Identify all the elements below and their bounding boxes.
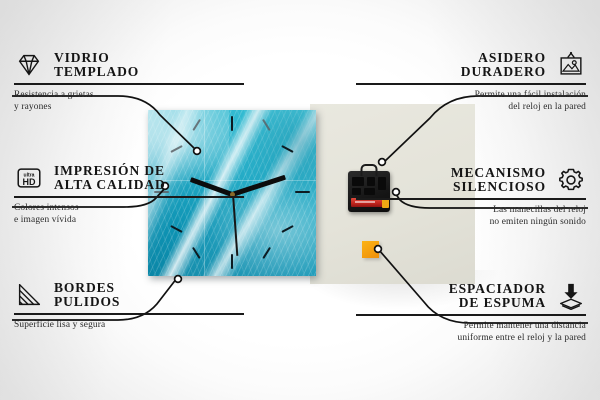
foam-spacer [362, 241, 379, 258]
feature-desc-line2: e imagen vívida [14, 214, 244, 227]
svg-text:HD: HD [23, 177, 36, 187]
feature-rule [14, 83, 244, 85]
feature-title-line2: PULIDOS [54, 295, 120, 309]
feature-desc-line2: del reloj en la pared [356, 101, 586, 114]
polished-edge-icon [14, 280, 44, 310]
feature-impresion-alta-calidad: ultra HD IMPRESIÓN DE ALTA CALIDAD Color… [14, 163, 244, 227]
tick-6 [231, 254, 233, 269]
infographic-canvas: VIDRIO TEMPLADO Resistencia a grietas y … [0, 0, 600, 400]
feature-title-line2: ALTA CALIDAD [54, 178, 166, 192]
feature-desc-line1: Las manecillas del reloj [356, 204, 586, 217]
feature-title-line1: MECANISMO [451, 166, 546, 180]
feature-desc-line2: y rayones [14, 101, 244, 114]
feature-title-line2: TEMPLADO [54, 65, 139, 79]
feature-desc-line2: uniforme entre el reloj y la pared [356, 332, 586, 345]
feature-rule [356, 83, 586, 85]
feature-rule [356, 314, 586, 316]
ultra-hd-icon: ultra HD [14, 163, 44, 193]
gear-icon [556, 165, 586, 195]
feature-desc-line1: Permite una fácil instalación [356, 89, 586, 102]
feature-title-line2: DURADERO [461, 65, 546, 79]
feature-title-line2: DE ESPUMA [449, 296, 546, 310]
picture-frame-hanger-icon [556, 50, 586, 80]
feature-vidrio-templado: VIDRIO TEMPLADO Resistencia a grietas y … [14, 50, 244, 114]
feature-espaciador-de-espuma: ESPACIADOR DE ESPUMA Permite mantener un… [356, 281, 586, 345]
feature-bordes-pulidos: BORDES PULIDOS Superficie lisa y segura [14, 280, 244, 331]
feature-rule [356, 198, 586, 200]
feature-desc-line1: Colores intensos [14, 202, 244, 215]
feature-title-line1: IMPRESIÓN DE [54, 164, 166, 178]
feature-desc-line1: Resistencia a grietas [14, 89, 244, 102]
feature-mecanismo-silencioso: MECANISMO SILENCIOSO Las manecillas del … [356, 165, 586, 229]
feature-rule [14, 313, 244, 315]
arrow-down-onto-layers-icon [556, 281, 586, 311]
tick-12 [231, 116, 233, 131]
feature-title-line1: VIDRIO [54, 51, 139, 65]
feature-asidero-duradero: ASIDERO DURADERO Permite una fácil insta… [356, 50, 586, 114]
diamond-icon [14, 50, 44, 80]
feature-title-line1: ASIDERO [461, 51, 546, 65]
feature-rule [14, 196, 244, 198]
feature-desc-line2: no emiten ningún sonido [356, 216, 586, 229]
feature-desc-line1: Superficie lisa y segura [14, 319, 244, 332]
feature-title-line1: BORDES [54, 281, 120, 295]
tick-3 [295, 191, 310, 193]
feature-title-line1: ESPACIADOR [449, 282, 546, 296]
feature-title-line2: SILENCIOSO [451, 180, 546, 194]
feature-desc-line1: Permite mantener una distancia [356, 320, 586, 333]
